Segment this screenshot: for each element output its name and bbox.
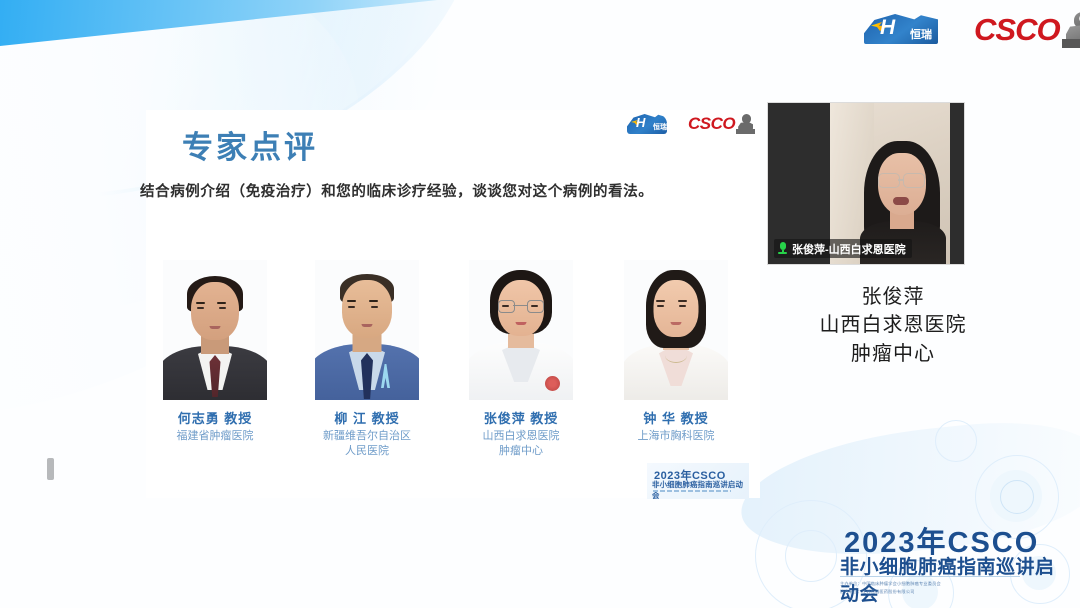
background-ring-2 xyxy=(1000,480,1034,514)
event-logo-divider xyxy=(840,576,1020,577)
necklace xyxy=(665,348,687,363)
background-ring-fill-1 xyxy=(990,470,1042,522)
expert-card: 张俊萍 教授 山西白求恩医院 肿瘤中心 xyxy=(446,260,596,459)
speaker-hospital: 山西白求恩医院 xyxy=(768,311,1018,339)
face xyxy=(191,282,239,340)
slide-watermark-line2: 非小细胞肺癌指南巡讲启动会 xyxy=(652,479,749,499)
video-letterbox-right xyxy=(950,103,964,264)
participant-name-badge: 张俊萍-山西白求恩医院 xyxy=(774,239,912,258)
screen-root: H 恒瑞 CSCO 专家点评 结合病例介绍（免疫治疗）和您的临床诊疗经验，谈谈您… xyxy=(0,0,1080,608)
face xyxy=(654,280,699,337)
hengrui-logo: H 恒瑞 xyxy=(864,10,960,48)
slide-hengrui-mark: H xyxy=(636,116,645,129)
expert-org: 山西白求恩医院 肿瘤中心 xyxy=(446,429,596,459)
speaker-department: 肿瘤中心 xyxy=(768,340,1018,368)
expert-photo xyxy=(163,260,267,400)
hengrui-logo-cn: 恒瑞 xyxy=(910,26,932,42)
expert-name: 张俊萍 教授 xyxy=(446,408,596,427)
expert-card: 柳 江 教授 新疆维吾尔自治区 人民医院 xyxy=(292,260,442,459)
slide-watermark-logo: 2023年CSCO 非小细胞肺癌指南巡讲启动会 xyxy=(647,463,749,499)
expert-name: 何志勇 教授 xyxy=(140,408,290,427)
background-top-stripe xyxy=(0,0,520,46)
expert-card: 何志勇 教授 福建省肿瘤医院 xyxy=(140,260,290,444)
csco-lion-icon xyxy=(1062,10,1080,48)
expert-card: 钟 华 教授 上海市胸科医院 xyxy=(601,260,751,444)
speaker-name: 张俊萍 xyxy=(768,283,1018,311)
expert-org: 福建省肿瘤医院 xyxy=(140,429,290,444)
background-ring-6 xyxy=(785,530,837,582)
slide-watermark-rule xyxy=(653,490,731,492)
expert-photo xyxy=(315,260,419,400)
microphone-icon xyxy=(777,242,788,256)
event-logo-credits: 主办单位：中国临床肿瘤学会小细胞肺癌专业委员会 协办单位：江苏恒瑞医药股份有限公… xyxy=(840,580,941,596)
header-logo-group: H 恒瑞 CSCO xyxy=(864,10,1080,48)
slide-title: 专家点评 xyxy=(182,122,318,167)
hengrui-logo-mark: H xyxy=(880,17,895,38)
participant-eyeglasses-icon xyxy=(878,173,900,188)
expert-photo xyxy=(624,260,728,400)
slide-hengrui-cn: 恒瑞 xyxy=(653,122,667,132)
slide-subtitle: 结合病例介绍（免疫治疗）和您的临床诊疗经验，谈谈您对这个病例的看法。 xyxy=(140,180,653,201)
expert-org: 新疆维吾尔自治区 人民医院 xyxy=(292,429,442,459)
expert-name: 钟 华 教授 xyxy=(601,408,751,427)
slide-logo-group: H 恒瑞 CSCO xyxy=(627,113,755,135)
experts-row: 何志勇 教授 福建省肿瘤医院 柳 江 教授 新疆维吾尔自治区 人民医院 xyxy=(146,260,760,460)
slide-csco-text: CSCO xyxy=(688,114,735,134)
csco-logo-text: CSCO xyxy=(974,12,1060,48)
event-credit-sponsor: 协办单位：江苏恒瑞医药股份有限公司 xyxy=(840,588,941,596)
event-logo-title: 非小细胞肺癌指南巡讲启动会 xyxy=(840,552,1066,606)
expert-name: 柳 江 教授 xyxy=(292,408,442,427)
participant-mouth xyxy=(893,197,909,205)
eyeglass-bridge xyxy=(513,305,527,306)
participant-name-label: 张俊萍-山西白求恩医院 xyxy=(792,241,906,257)
slide-csco-logo: CSCO xyxy=(688,114,755,134)
csco-logo: CSCO xyxy=(974,10,1080,48)
speaker-caption: 张俊萍 山西白求恩医院 肿瘤中心 xyxy=(768,283,1018,368)
video-tile[interactable]: 张俊萍-山西白求恩医院 xyxy=(768,103,964,264)
event-logo: 2023年CSCO 非小细胞肺癌指南巡讲启动会 主办单位：中国临床肿瘤学会小细胞… xyxy=(838,519,1066,599)
background-ring-7 xyxy=(935,420,977,462)
expert-photo xyxy=(469,260,573,400)
participant-eyeglasses-icon xyxy=(903,173,925,188)
slide-hengrui-logo: H 恒瑞 xyxy=(627,113,679,135)
hospital-emblem xyxy=(545,376,560,391)
face xyxy=(342,280,392,338)
slide-csco-lion-icon xyxy=(736,114,755,134)
scroll-indicator[interactable] xyxy=(47,458,54,480)
expert-org: 上海市胸科医院 xyxy=(601,429,751,444)
participant-eyeglass-bridge xyxy=(898,179,904,181)
event-credit-host: 主办单位：中国临床肿瘤学会小细胞肺癌专业委员会 xyxy=(840,580,941,588)
